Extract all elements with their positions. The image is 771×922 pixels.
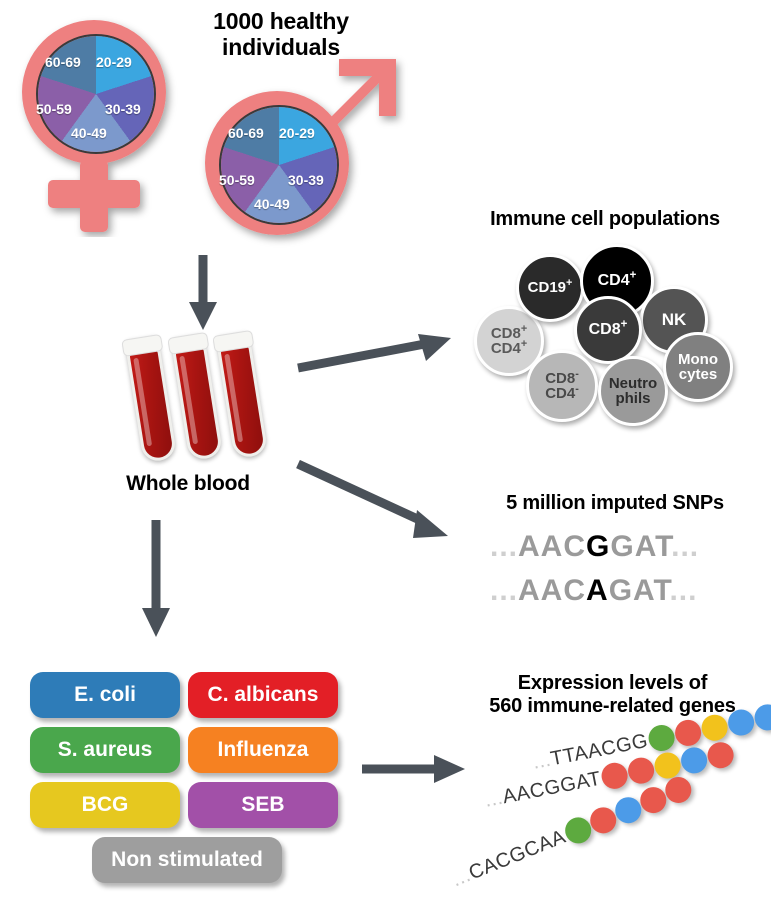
- stimulus-non-stimulated[interactable]: Non stimulated: [92, 837, 282, 883]
- stimulus-s-aureus[interactable]: S. aureus: [30, 727, 180, 773]
- female-age-label-30-39: 30-39: [105, 101, 141, 117]
- expression-title-line1: Expression levels of: [460, 672, 765, 695]
- cell-cd19pos: CD19+: [516, 254, 584, 322]
- gene-dot: [673, 718, 703, 748]
- female-age-label-50-59: 50-59: [36, 101, 72, 117]
- female-gender-symbol: 60-69 20-29 30-39 40-49 50-59: [8, 12, 188, 237]
- stimulus-label: Non stimulated: [111, 848, 263, 872]
- stimulus-label: S. aureus: [58, 738, 153, 762]
- arrow-blood-to-snps: [296, 460, 456, 550]
- snp-prefix: ...: [490, 574, 518, 607]
- male-age-label-50-59: 50-59: [219, 172, 255, 188]
- arrow-blood-to-stimuli: [136, 520, 176, 638]
- snp-suffix: ...: [669, 574, 697, 607]
- gene-dot: [626, 755, 656, 785]
- stimulus-influenza[interactable]: Influenza: [188, 727, 338, 773]
- snp-row: ...AACGGAT...: [490, 530, 699, 564]
- strand-sequence: ...CACGCAA: [449, 825, 569, 891]
- whole-blood-group: Whole blood: [108, 335, 278, 515]
- arrow-cohort-to-blood: [183, 255, 223, 331]
- blood-tube: [124, 334, 177, 463]
- male-age-label-40-49: 40-49: [254, 196, 290, 212]
- snp-title: 5 million imputed SNPs: [470, 492, 760, 515]
- gene-dot: [679, 745, 709, 775]
- snp-suffix: ...: [671, 530, 699, 563]
- gene-dot: [705, 740, 735, 770]
- whole-blood-label: Whole blood: [93, 472, 283, 496]
- snp-right: GAT: [610, 530, 671, 563]
- cell-label: CD8+: [589, 322, 628, 338]
- snp-row: ...AACAGAT...: [490, 574, 697, 608]
- cell-cd8neg-cd4neg: CD8- CD4-: [526, 350, 598, 422]
- snp-variant: A: [586, 574, 609, 607]
- arrow-blood-to-immune: [296, 330, 456, 378]
- male-gender-symbol: 60-69 20-29 30-39 40-49 50-59: [196, 42, 411, 252]
- female-age-label-60-69: 60-69: [45, 54, 81, 70]
- gene-dot: [699, 712, 729, 742]
- cell-label: CD8- CD4-: [545, 371, 579, 402]
- immune-cell-cluster: CD8+ CD4+ CD19+ CD4+ NK CD8+: [460, 240, 760, 425]
- arrow-stimuli-to-expression: [360, 752, 470, 786]
- male-age-label-30-39: 30-39: [288, 172, 324, 188]
- figure-canvas: 1000 healthy individuals 60-69 20-29 30-…: [0, 0, 771, 922]
- stimulus-c-albicans[interactable]: C. albicans: [188, 672, 338, 718]
- snp-right: GAT: [609, 574, 670, 607]
- stimulus-label: BCG: [82, 793, 129, 817]
- cell-monocytes: Monocytes: [663, 332, 733, 402]
- gene-dot: [599, 761, 629, 791]
- gene-dot: [752, 702, 771, 732]
- male-age-label-60-69: 60-69: [228, 125, 264, 141]
- gene-dot: [726, 707, 756, 737]
- gene-dot: [646, 723, 676, 753]
- cell-label: NK: [662, 311, 687, 328]
- snp-left: AAC: [518, 574, 586, 607]
- stimulus-bcg[interactable]: BCG: [30, 782, 180, 828]
- cell-neutrophils: Neutrophils: [598, 356, 668, 426]
- cell-label: Neutrophils: [609, 376, 657, 407]
- stimulus-label: E. coli: [74, 683, 136, 707]
- male-age-label-20-29: 20-29: [279, 125, 315, 141]
- snp-sequences: ...AACGGAT... ...AACAGAT...: [490, 530, 740, 620]
- expression-strands: ...TTAACGG ...AACGGAT ...CACGCAA: [455, 730, 771, 910]
- blood-tube: [170, 332, 223, 461]
- stimulus-seb[interactable]: SEB: [188, 782, 338, 828]
- snp-variant: G: [586, 530, 610, 563]
- cohort-title-line1: 1000 healthy: [166, 8, 396, 34]
- snp-left: AAC: [518, 530, 586, 563]
- blood-tube: [215, 330, 268, 459]
- female-age-label-40-49: 40-49: [71, 125, 107, 141]
- cell-label: CD19+: [528, 280, 573, 295]
- expression-title: Expression levels of 560 immune-related …: [460, 672, 765, 718]
- stimulus-label: C. albicans: [208, 683, 319, 707]
- stimuli-panel: E. coli C. albicans S. aureus Influenza …: [30, 672, 350, 897]
- cell-label: Monocytes: [678, 352, 718, 383]
- female-age-label-20-29: 20-29: [96, 54, 132, 70]
- cell-label: CD8+ CD4+: [491, 326, 527, 357]
- immune-cell-title: Immune cell populations: [450, 208, 760, 231]
- cell-cd8pos: CD8+: [574, 296, 642, 364]
- cell-label: CD4+: [598, 273, 637, 289]
- stimulus-label: Influenza: [217, 738, 308, 762]
- stimulus-e-coli[interactable]: E. coli: [30, 672, 180, 718]
- stimulus-label: SEB: [241, 793, 284, 817]
- snp-prefix: ...: [490, 530, 518, 563]
